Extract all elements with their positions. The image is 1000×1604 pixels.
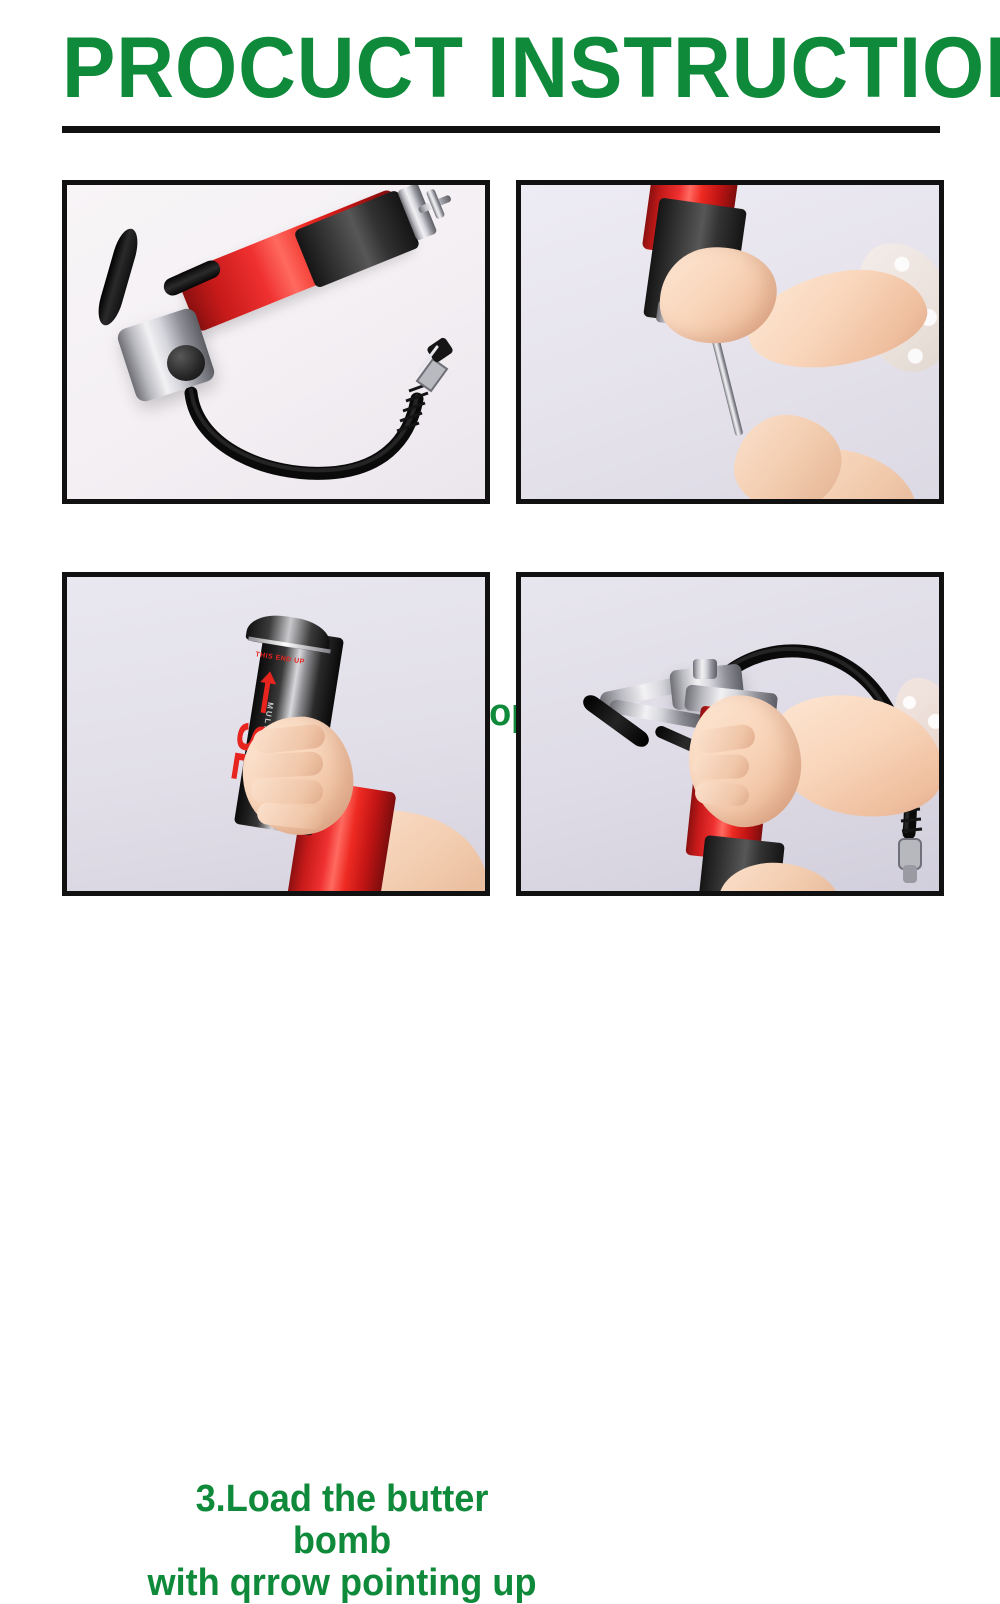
step-card-1: 1.Force the barrel to open <box>62 180 490 504</box>
instruction-sheet: PROCUCT INSTRUCTIONS <box>0 0 1000 1000</box>
steps-grid: 1.Force the barrel to open 2.Pull <box>0 0 1000 1000</box>
step-card-3: THIS END UP MULTI-PURPOSE SE 3.Load the … <box>62 572 490 896</box>
step-photo-1 <box>62 180 490 504</box>
photo-scene-2 <box>521 185 939 499</box>
finger <box>248 751 323 779</box>
step-card-2: 2.Pull the lever to low <box>516 180 944 504</box>
finger <box>693 754 750 780</box>
photo-scene-3: THIS END UP MULTI-PURPOSE SE <box>67 577 485 891</box>
step-photo-2 <box>516 180 944 504</box>
step-caption-3-line-2: with qrrow pointing up <box>143 1562 542 1604</box>
step-caption-3-line-1: 3.Load the butter bomb <box>196 1478 489 1562</box>
finger <box>694 781 749 807</box>
head-nut <box>693 659 717 679</box>
step-caption-3: 3.Load the butter bomb with qrrow pointi… <box>143 1478 542 1604</box>
photo-scene-1 <box>67 185 485 499</box>
step-photo-4 <box>516 572 944 896</box>
photo-scene-4 <box>521 577 939 891</box>
head-knob <box>167 345 205 381</box>
step-photo-3: THIS END UP MULTI-PURPOSE SE <box>62 572 490 896</box>
hand-pulling-rod <box>729 408 847 499</box>
step-card-4: 4. Just screw the gun head <box>516 572 944 896</box>
finger <box>251 778 324 804</box>
